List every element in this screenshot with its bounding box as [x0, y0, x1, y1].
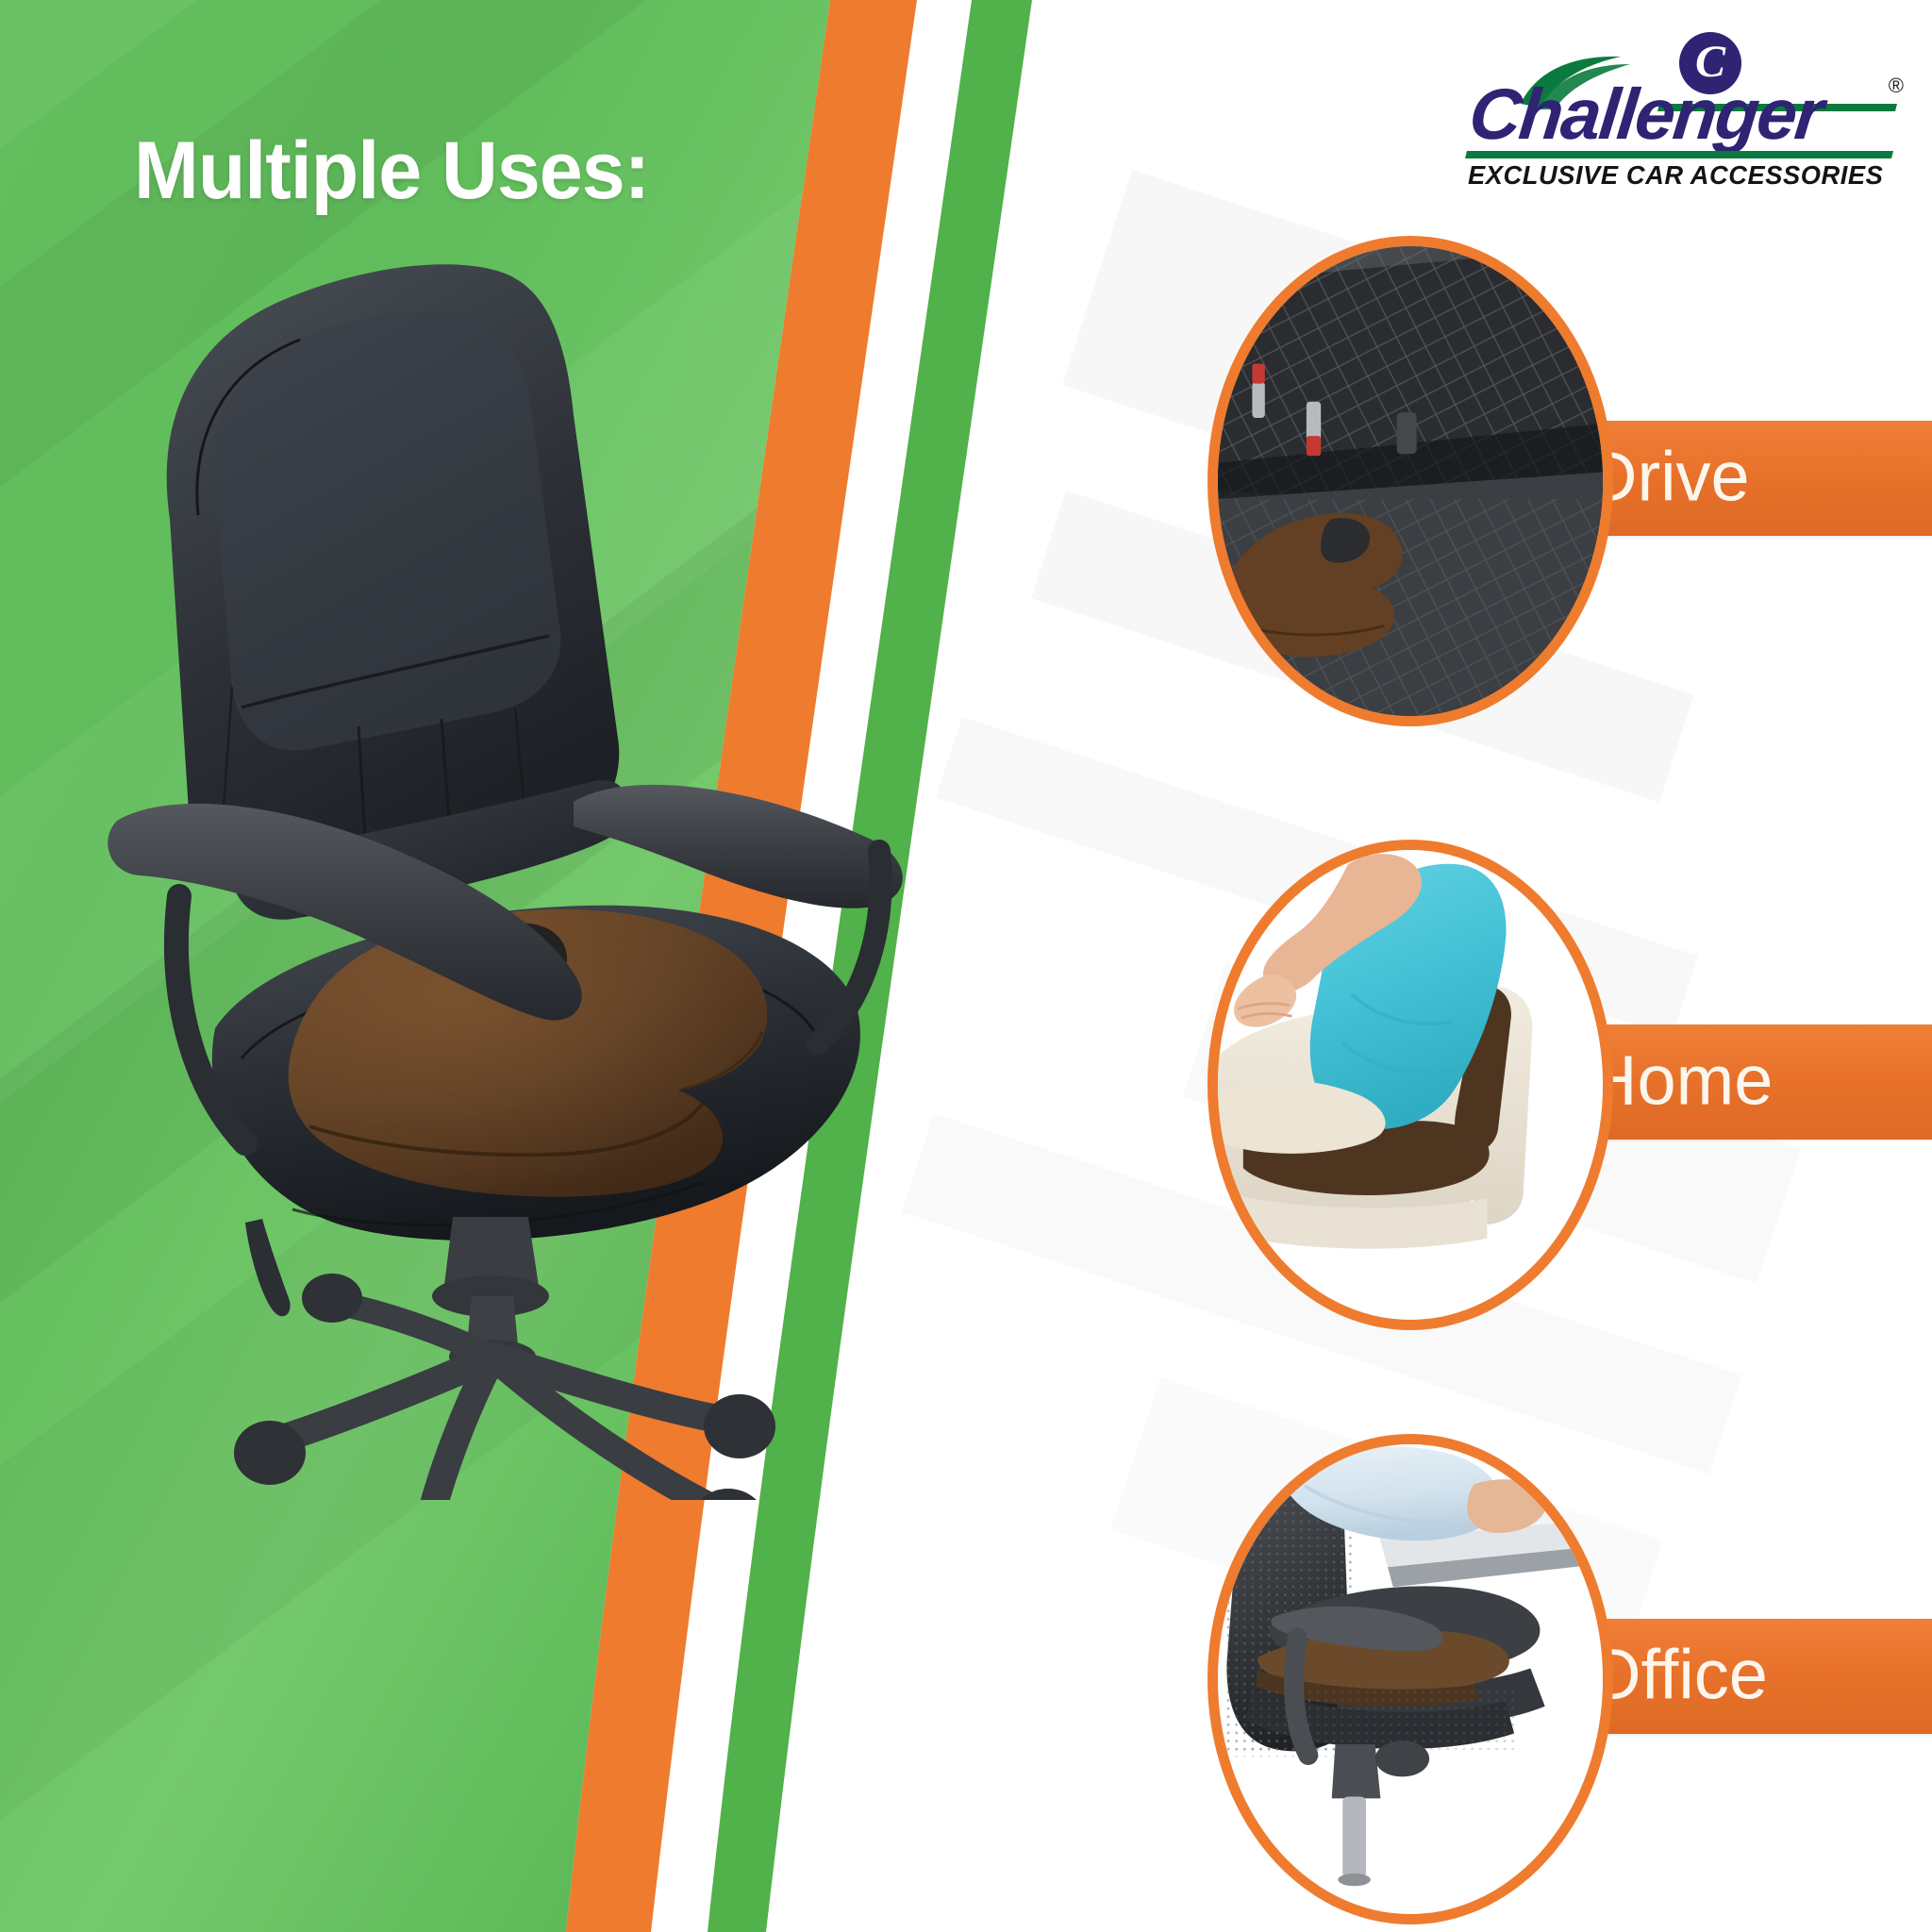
tilt-lever	[245, 1219, 291, 1316]
callout-label-home: Home	[1587, 1046, 1773, 1116]
callout-image-office	[1207, 1434, 1613, 1924]
callout-image-drive	[1207, 236, 1613, 726]
page-title: Multiple Uses:	[134, 130, 649, 211]
callout-label-office: Office	[1587, 1641, 1768, 1710]
callout-drive[interactable]: Drive	[1207, 236, 1924, 726]
logo-bar-bottom	[1465, 151, 1893, 158]
callout-home[interactable]: Home	[1207, 840, 1924, 1330]
brand-logo: C Challenger ® EXCLUSIVE CAR ACCESSORIES	[1464, 32, 1907, 192]
registered-trademark-mark: ®	[1889, 74, 1904, 98]
product-hero-office-chair	[57, 236, 924, 1500]
callout-image-home	[1207, 840, 1613, 1330]
brand-name: Challenger	[1466, 79, 1825, 151]
brand-wordmark: Challenger	[1464, 83, 1907, 157]
callout-office[interactable]: Office	[1207, 1434, 1924, 1924]
chair-base-and-casters	[234, 1217, 775, 1500]
brand-tagline: EXCLUSIVE CAR ACCESSORIES	[1468, 160, 1905, 191]
product-marketing-poster: Multiple Uses: C Challenger ® EXCLUSIVE …	[0, 0, 1932, 1932]
